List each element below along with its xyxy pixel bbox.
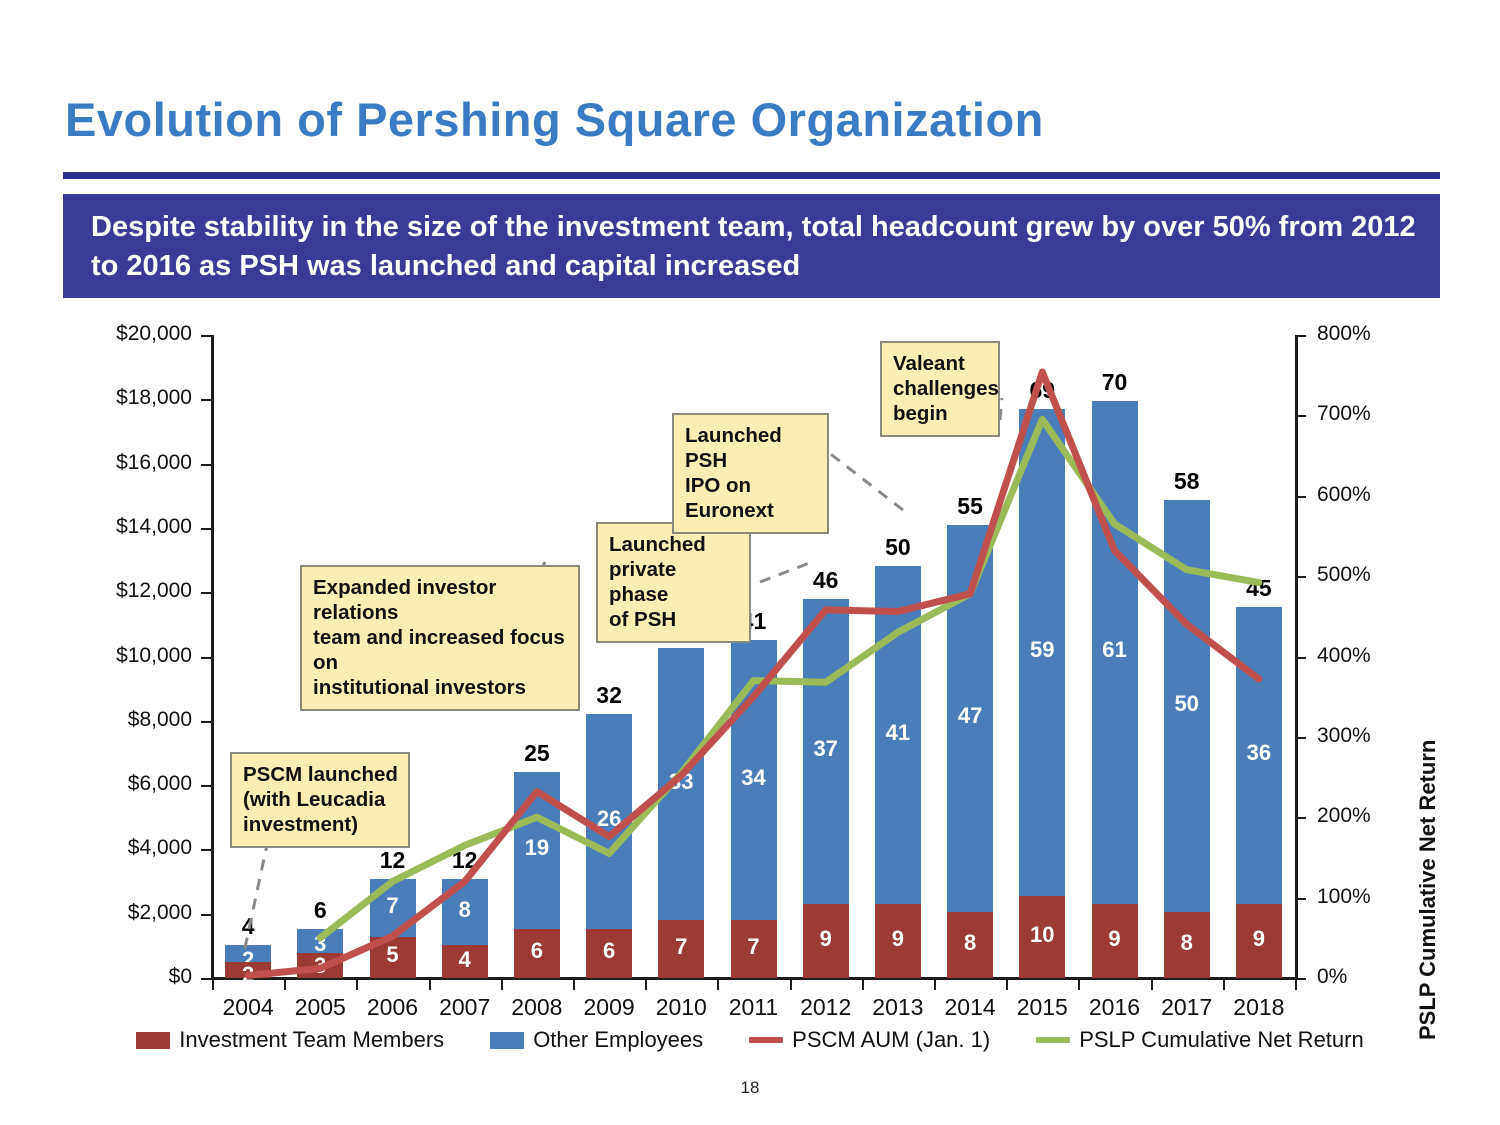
subtitle-banner: Despite stability in the size of the inv… (63, 194, 1440, 298)
annotation-line: challenges (893, 376, 988, 401)
legend-item[interactable]: Investment Team Members (136, 1027, 444, 1053)
annotation-pscm-launched: PSCM launched(with Leucadiainvestment) (230, 752, 410, 848)
annotation-line: Euronext (685, 498, 817, 523)
title-divider (63, 172, 1440, 179)
annotation-private-phase: Launchedprivate phaseof PSH (596, 522, 751, 643)
chart-legend: Investment Team MembersOther EmployeesPS… (0, 1018, 1500, 1062)
annotation-line: of PSH (609, 607, 739, 632)
leader-line-valeant (1000, 398, 1002, 420)
annotation-line: team and increased focus on (313, 625, 568, 675)
legend-swatch (136, 1032, 170, 1049)
annotation-line: private phase (609, 557, 739, 607)
legend-label: Investment Team Members (179, 1027, 444, 1053)
page-number: 18 (0, 1078, 1500, 1098)
legend-label: PSLP Cumulative Net Return (1079, 1027, 1364, 1053)
annotation-line: begin (893, 401, 988, 426)
annotation-psh-ipo: Launched PSHIPO onEuronext (672, 413, 829, 534)
legend-label: PSCM AUM (Jan. 1) (792, 1027, 990, 1053)
annotation-line: Expanded investor relations (313, 575, 568, 625)
annotation-line: Launched (609, 532, 739, 557)
annotation-line: investment) (243, 812, 398, 837)
annotation-line: institutional investors (313, 675, 568, 700)
annotation-line: Valeant (893, 351, 988, 376)
subtitle-text: Despite stability in the size of the inv… (91, 208, 1416, 285)
annotation-line: IPO on (685, 473, 817, 498)
chart-container: PSCM AUM ($mm) PSLP Cumulative Net Retur… (0, 300, 1500, 1060)
annotation-valeant: Valeantchallengesbegin (880, 341, 1000, 437)
leader-line-private-phase (760, 562, 812, 582)
annotation-expanded-ir: Expanded investor relationsteam and incr… (300, 565, 580, 711)
annotation-line: (with Leucadia (243, 787, 398, 812)
legend-item[interactable]: PSCM AUM (Jan. 1) (749, 1027, 990, 1053)
annotation-line: Launched PSH (685, 423, 817, 473)
page-title: Evolution of Pershing Square Organizatio… (65, 92, 1445, 147)
legend-item[interactable]: PSLP Cumulative Net Return (1036, 1027, 1364, 1053)
legend-swatch (749, 1037, 783, 1043)
leader-line-psh-ipo (828, 452, 903, 510)
legend-swatch (490, 1032, 524, 1049)
leader-line-pscm-launched (243, 840, 268, 957)
legend-item[interactable]: Other Employees (490, 1027, 703, 1053)
legend-label: Other Employees (533, 1027, 703, 1053)
annotation-line: PSCM launched (243, 762, 398, 787)
legend-swatch (1036, 1037, 1070, 1043)
